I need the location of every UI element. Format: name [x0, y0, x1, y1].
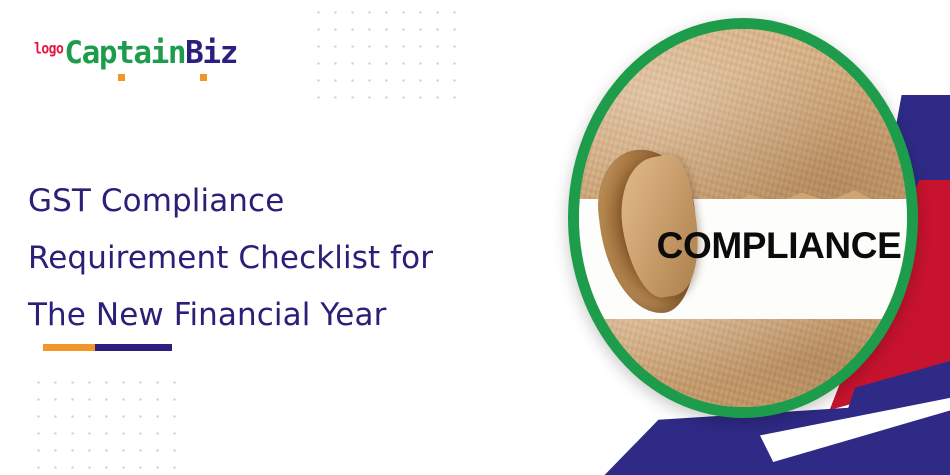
divider-segment-orange [43, 344, 95, 351]
compliance-circle-frame: COMPLIANCE [568, 18, 918, 418]
torn-paper-photo: COMPLIANCE [579, 29, 907, 407]
headline-line-2: Requirement Checklist for [28, 230, 528, 287]
logo-accent-square-2-icon [200, 74, 207, 81]
headline-line-1: GST Compliance [28, 173, 528, 230]
accent-divider [43, 344, 172, 351]
dot-grid-top [308, 2, 466, 108]
divider-segment-navy [95, 344, 172, 351]
logo-wordmark: CaptainBiz [64, 38, 237, 69]
page-title: GST Compliance Requirement Checklist for… [28, 173, 528, 344]
logo-wordmark-biz: Biz [185, 35, 237, 71]
logo-badge-text: logo [34, 42, 63, 57]
logo-accent-square-icon [118, 74, 125, 81]
captainbiz-logo[interactable]: logo CaptainBiz [34, 36, 237, 80]
dot-grid-bottom [28, 372, 188, 475]
hero-artwork: COMPLIANCE [520, 0, 950, 475]
promo-banner: logo CaptainBiz GST Compliance Requireme… [0, 0, 950, 475]
logo-wordmark-captain: Captain [64, 35, 185, 71]
headline-line-3: The New Financial Year [28, 287, 528, 344]
compliance-caption: COMPLIANCE [579, 225, 907, 267]
